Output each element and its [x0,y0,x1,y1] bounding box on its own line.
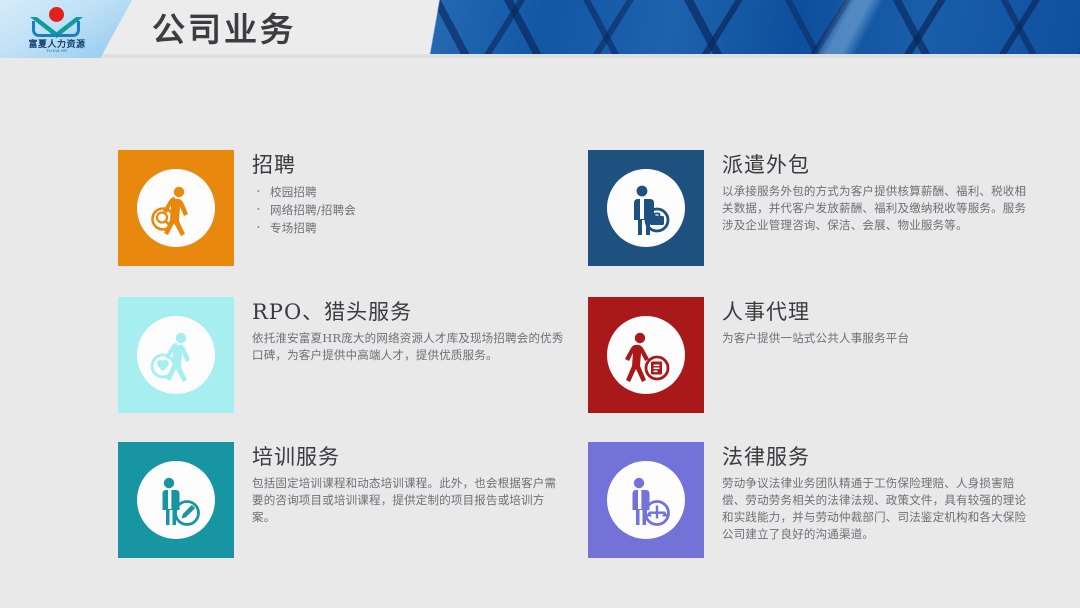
list-item: 网络招聘/招聘会 [270,201,564,219]
card-icon-tile [118,150,234,266]
card-description: 以承接服务外包的方式为客户提供核算薪酬、福利、税收相关数据，并代客户发放薪酬、福… [722,183,1034,234]
person-scale-icon [607,461,685,539]
card-title: RPO、猎头服务 [252,297,564,327]
person-pencil-icon [137,461,215,539]
card-icon-tile [588,297,704,413]
person-briefcase-icon [607,169,685,247]
list-item: 专场招聘 [270,219,564,237]
header-divider [0,54,1080,58]
card-body: 人事代理 为客户提供一站式公共人事服务平台 [722,297,1034,347]
card-body: 法律服务 劳动争议法律业务团队精通于工伤保险理赔、人身损害赔偿、劳动劳务相关的法… [722,442,1034,543]
person-document-icon [607,316,685,394]
card-title: 人事代理 [722,297,1034,327]
card-description: 包括固定培训课程和动态培训课程。此外，也会根据客户需要的咨询项目或培训课程，提供… [252,475,564,526]
person-heart-icon [137,316,215,394]
card-icon-tile [588,150,704,266]
card-icon-tile [118,442,234,558]
card-body: RPO、猎头服务 依托淮安富夏HR庞大的网络资源人才库及现场招聘会的优秀口碑，为… [252,297,564,364]
logo-company-subname: FUXIA HR [26,48,88,53]
page-title: 公司业务 [152,3,296,51]
card-title: 派遣外包 [722,150,1034,180]
card-body: 派遣外包 以承接服务外包的方式为客户提供核算薪酬、福利、税收相关数据，并代客户发… [722,150,1034,234]
card-body: 招聘 校园招聘 网络招聘/招聘会 专场招聘 [252,150,564,237]
logo-blue-cup [32,21,80,37]
card-icon-tile [588,442,704,558]
card-description: 为客户提供一站式公共人事服务平台 [722,330,1034,347]
card-description: 劳动争议法律业务团队精通于工伤保险理赔、人身损害赔偿、劳动劳务相关的法律法规、政… [722,475,1034,543]
slide-header: 富夏人力资源 FUXIA HR 公司业务 [0,0,1080,58]
card-title: 招聘 [252,150,564,180]
card-description: 依托淮安富夏HR庞大的网络资源人才库及现场招聘会的优秀口碑，为客户提供中高端人才… [252,330,564,364]
card-body: 培训服务 包括固定培训课程和动态培训课程。此外，也会根据客户需要的咨询项目或培训… [252,442,564,526]
card-title: 法律服务 [722,442,1034,472]
logo-panel: 富夏人力资源 FUXIA HR [0,0,132,58]
company-logo-icon: 富夏人力资源 FUXIA HR [22,5,90,53]
list-item: 校园招聘 [270,183,564,201]
card-title: 培训服务 [252,442,564,472]
header-banner-image [396,0,1080,54]
person-magnifier-icon [137,169,215,247]
card-icon-tile [118,297,234,413]
card-bullet-list: 校园招聘 网络招聘/招聘会 专场招聘 [252,183,564,237]
slide-canvas: 富夏人力资源 FUXIA HR 公司业务 招聘 校园招聘 网络招聘/招聘会 专场… [0,0,1080,608]
logo-red-dot [49,7,64,22]
